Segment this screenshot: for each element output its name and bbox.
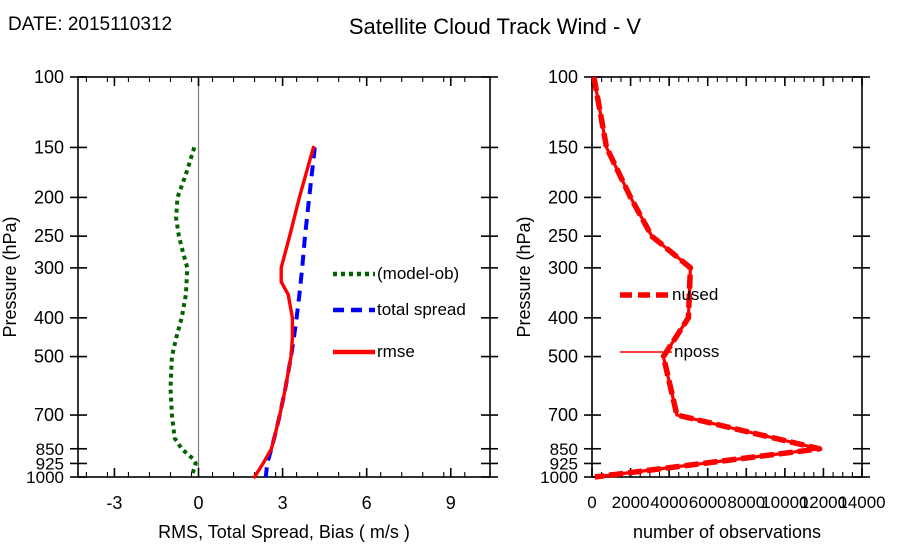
ytick-label: 300 <box>34 258 64 278</box>
series-nposs <box>594 77 820 477</box>
ytick-label: 500 <box>548 347 578 367</box>
ytick-label: 250 <box>34 226 64 246</box>
ytick-label: 200 <box>548 187 578 207</box>
plot-title: Satellite Cloud Track Wind - V <box>349 14 642 39</box>
xtick-label: 9 <box>446 493 456 513</box>
legend-label: nused <box>672 285 718 304</box>
ytick-label: 250 <box>548 226 578 246</box>
xtick-label: 8000 <box>727 493 765 512</box>
xtick-label: 6 <box>362 493 372 513</box>
xtick-label: -3 <box>106 493 122 513</box>
right-y-axis-label: Pressure (hPa) <box>514 216 534 337</box>
right-xtick-labels: 02000400060008000100001200014000 <box>587 493 885 512</box>
ytick-label: 400 <box>548 308 578 328</box>
figure-root: DATE: 2015110312 Satellite Cloud Track W… <box>0 0 900 560</box>
xtick-label: 0 <box>587 493 596 512</box>
legend-label: (model-ob) <box>377 264 459 283</box>
xtick-label: 0 <box>194 493 204 513</box>
right-x-axis-label: number of observations <box>633 522 821 542</box>
legend-label: nposs <box>674 342 719 361</box>
left-data-series <box>171 147 315 477</box>
ytick-label: 400 <box>34 308 64 328</box>
ytick-label: 700 <box>34 405 64 425</box>
legend-label: total spread <box>377 300 466 319</box>
left-x-axis-label: RMS, Total Spread, Bias ( m/s ) <box>158 522 410 542</box>
left-y-axis-label: Pressure (hPa) <box>0 216 20 337</box>
plot-canvas: DATE: 2015110312 Satellite Cloud Track W… <box>0 0 900 560</box>
right-panel: 1001502002503004005007008509251000 02000… <box>514 67 886 542</box>
legend-label: rmse <box>377 342 415 361</box>
ytick-label: 1000 <box>540 468 578 487</box>
ytick-label: 150 <box>34 137 64 157</box>
left-panel: 1001502002503004005007008509251000 -3036… <box>0 67 498 542</box>
left-ytick-labels: 1001502002503004005007008509251000 <box>26 67 64 487</box>
ytick-label: 700 <box>548 405 578 425</box>
date-label: DATE: 2015110312 <box>8 14 172 35</box>
ytick-label: 150 <box>548 137 578 157</box>
xtick-label: 14000 <box>838 493 885 512</box>
ytick-label: 200 <box>34 187 64 207</box>
xtick-label: 2000 <box>612 493 650 512</box>
right-ytick-labels: 1001502002503004005007008509251000 <box>540 67 578 487</box>
ytick-label: 300 <box>548 258 578 278</box>
xtick-label: 6000 <box>689 493 727 512</box>
xtick-label: 3 <box>278 493 288 513</box>
right-data-series <box>594 77 820 477</box>
left-xtick-labels: -30369 <box>106 493 455 513</box>
ytick-label: 1000 <box>26 468 64 487</box>
right-axis-ticks <box>584 77 870 477</box>
left-legend: (model-ob)total spreadrmse <box>333 264 466 361</box>
ytick-label: 100 <box>548 67 578 87</box>
ytick-label: 100 <box>34 67 64 87</box>
xtick-label: 4000 <box>650 493 688 512</box>
series-nused <box>594 77 820 477</box>
series-rmse <box>255 147 314 477</box>
ytick-label: 500 <box>34 347 64 367</box>
series--model-ob- <box>171 147 196 477</box>
right-axes-frame <box>592 77 862 477</box>
